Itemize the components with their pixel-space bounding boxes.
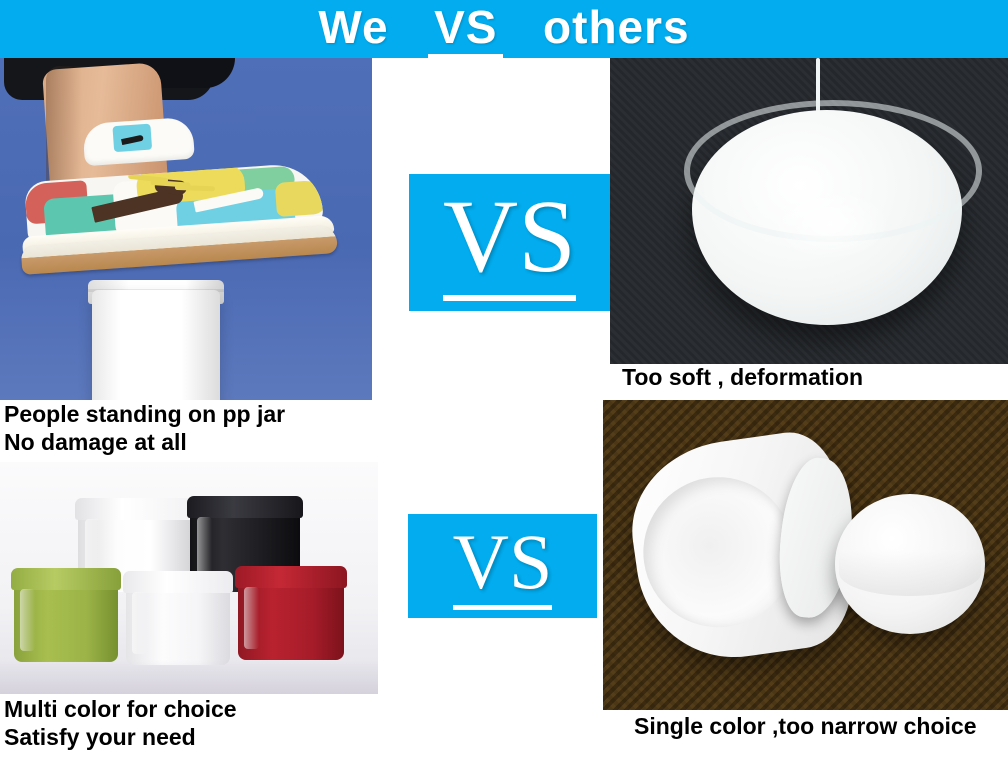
caption-theirs-single-color: Single color ,too narrow choice <box>634 712 1008 740</box>
title-part-we: We <box>314 1 392 53</box>
title-part-others: others <box>539 1 694 53</box>
caption-theirs-too-soft: Too soft , deformation <box>622 363 1008 391</box>
vs-badge-label-row-2: VS <box>453 523 553 610</box>
vs-badge-label-row-1: VS <box>443 185 576 301</box>
photo-multi-color-jars <box>0 462 378 694</box>
photo-soft-deformed-jar <box>610 58 1008 364</box>
vs-badge-row-1: VS <box>409 174 610 311</box>
jar-lid <box>235 566 347 588</box>
jar-lid <box>75 498 193 520</box>
jar-reflection <box>20 589 35 651</box>
jar-white-front <box>126 587 230 665</box>
photo-person-standing-on-jar <box>0 58 372 400</box>
jar-reflection <box>244 587 259 649</box>
title-part-vs: VS <box>428 1 503 58</box>
jar-reflection <box>132 592 147 654</box>
surface-reflection <box>0 660 378 694</box>
shoe-panel-yellow-toe <box>275 180 324 217</box>
jar-lid <box>123 571 233 593</box>
jar-lid <box>187 496 303 518</box>
title-space-right <box>503 1 539 53</box>
jar-green-front <box>14 584 118 662</box>
cream-gloss-highlight <box>770 188 890 260</box>
nike-tongue-tag <box>112 124 152 153</box>
title-space-left <box>393 1 429 53</box>
vs-badge-row-2: VS <box>408 514 597 618</box>
jar-lid <box>11 568 121 590</box>
caption-ours-multi-color: Multi color for choice Satisfy your need <box>4 695 384 751</box>
single-jar-mouth-shape <box>634 467 803 636</box>
header-banner: We VS others <box>0 0 1008 58</box>
single-jar-lid-shape <box>835 494 985 634</box>
sneaker-illustration <box>14 133 338 275</box>
caption-ours-durability: People standing on pp jar No damage at a… <box>4 400 384 456</box>
jar-red-front <box>238 582 344 660</box>
pp-jar-body-shape <box>92 290 220 400</box>
photo-single-color-jar <box>603 400 1008 710</box>
comparison-poster: We VS others <box>0 0 1008 757</box>
page-title: We VS others <box>314 1 693 58</box>
